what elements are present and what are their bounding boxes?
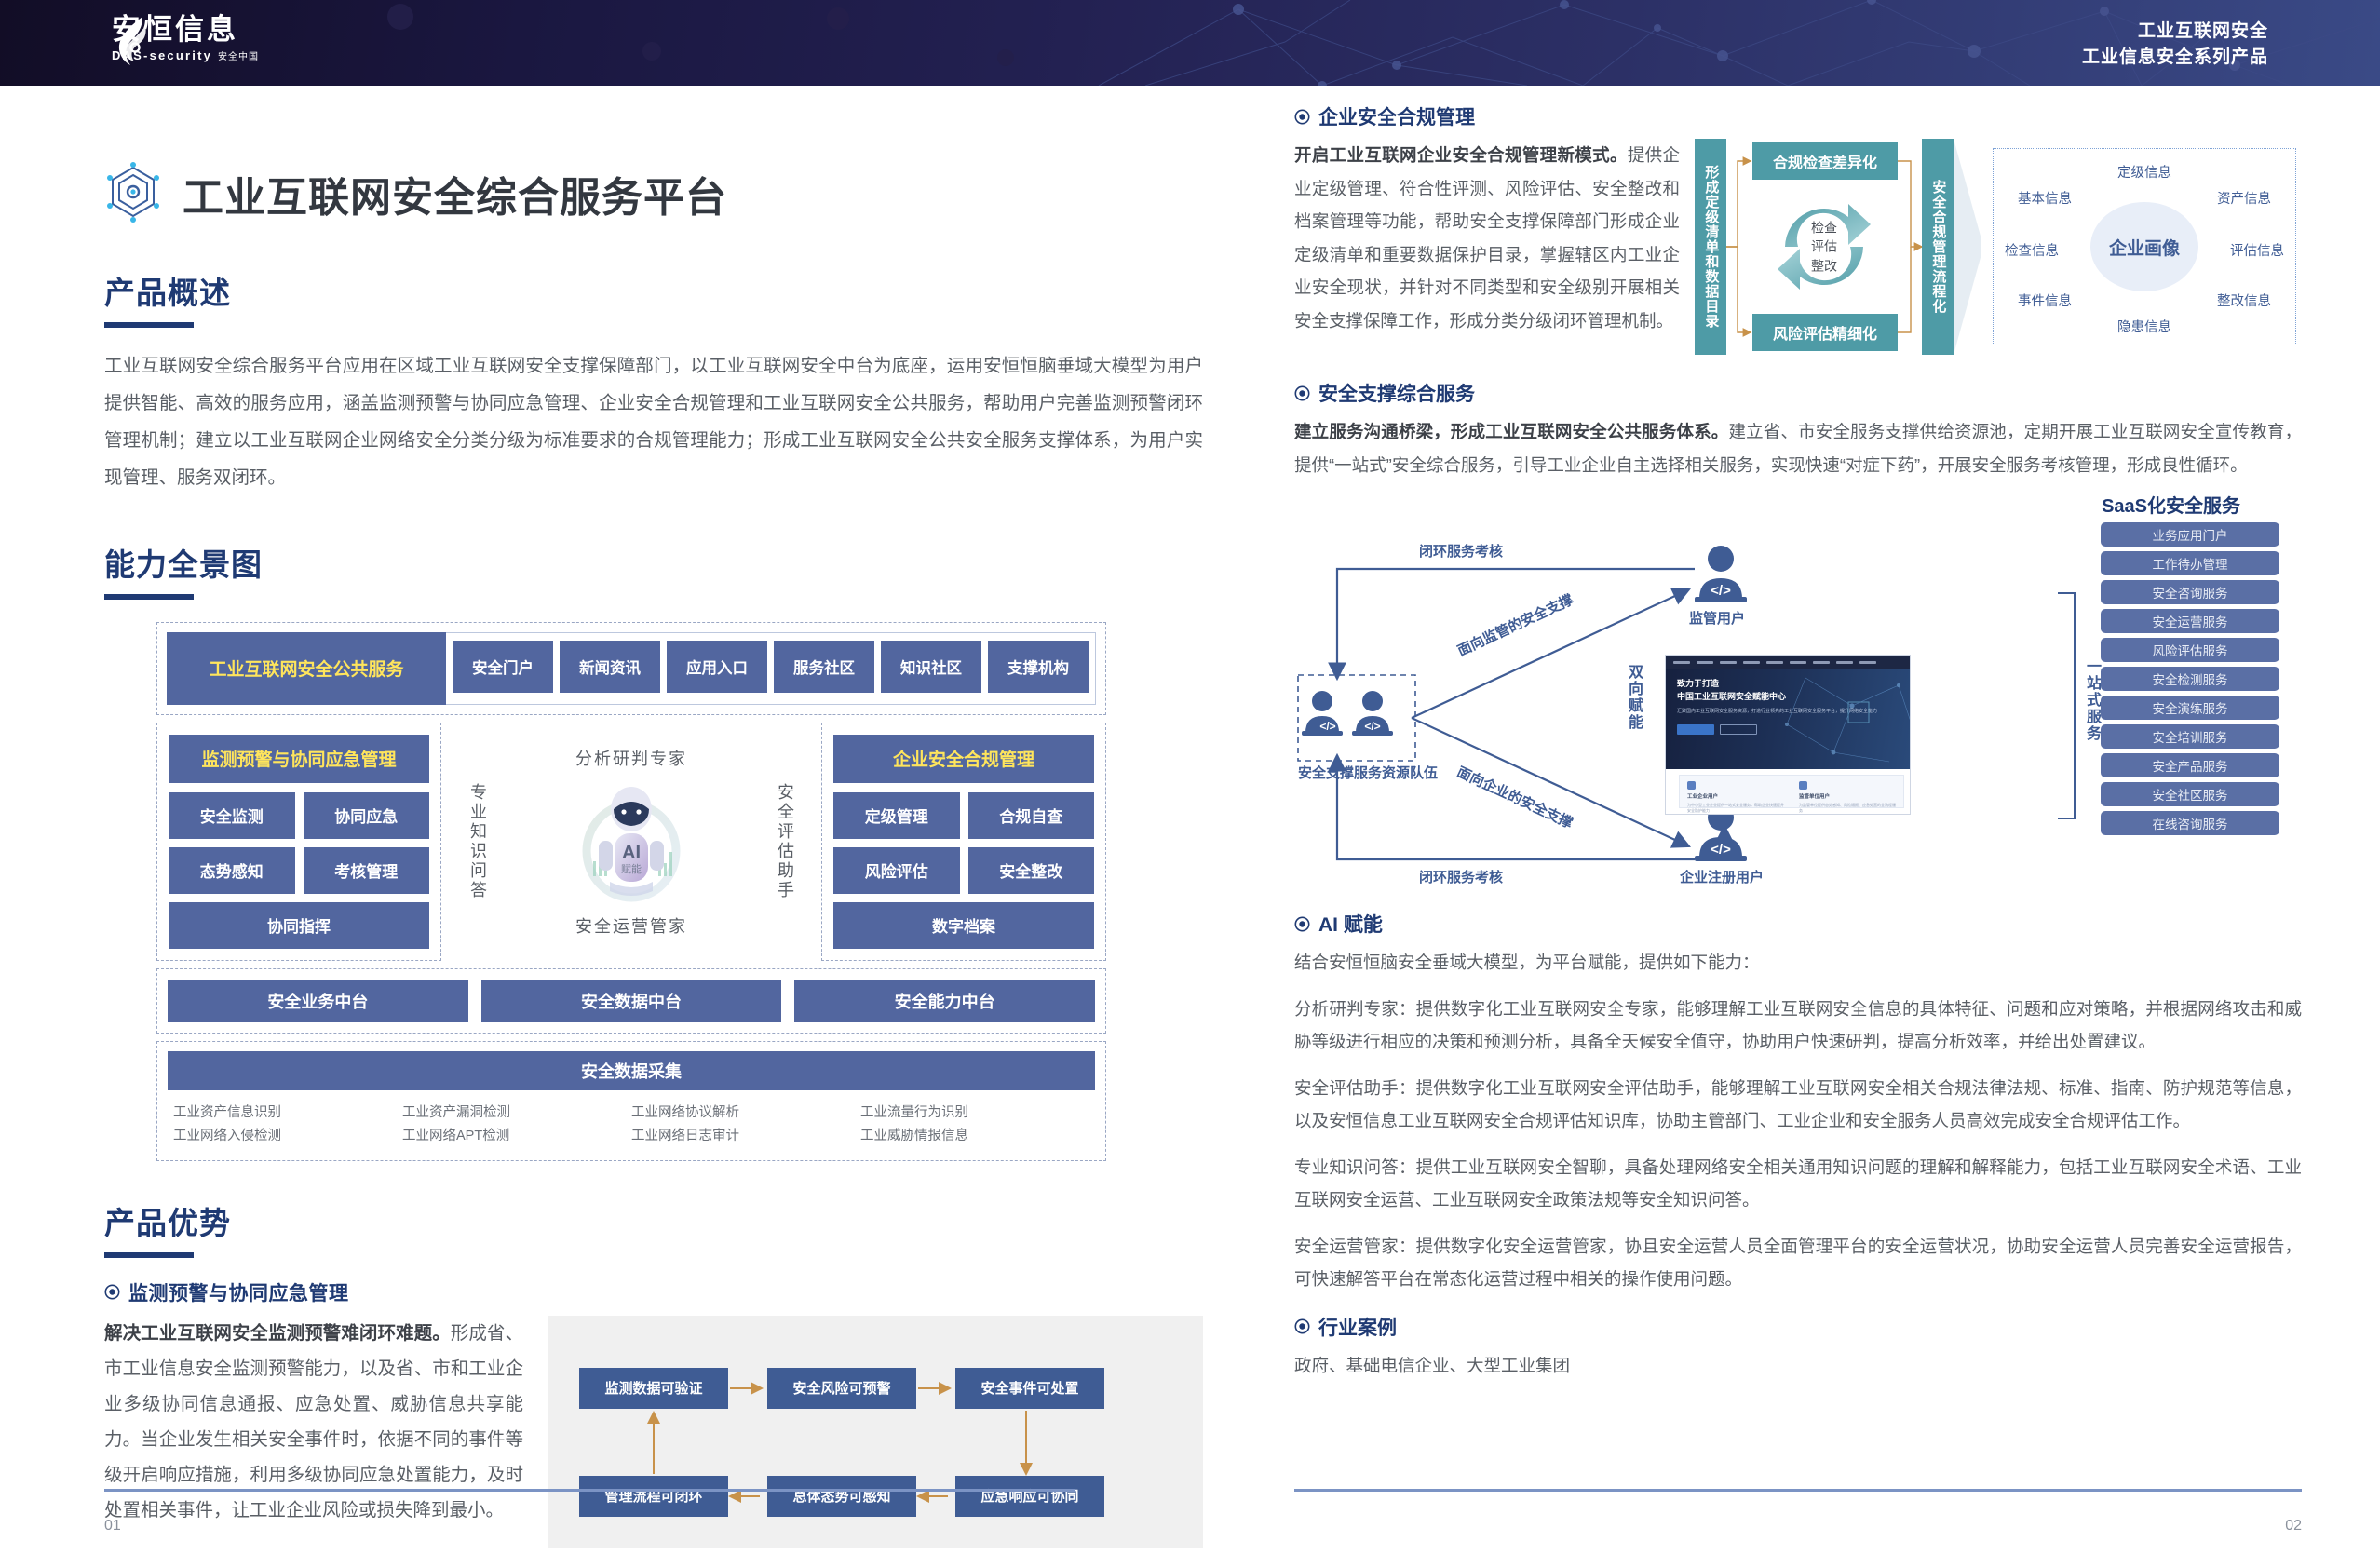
right-page-column: 企业安全合规管理 开启工业互联网企业安全合规管理新模式。提供企业定级管理、符合性… bbox=[1294, 102, 2302, 1382]
banner-network-pattern bbox=[0, 0, 2380, 86]
collect-column: 工业流量行为识别 工业威胁情报信息 bbox=[860, 1102, 1089, 1149]
profile-item: 检查信息 bbox=[2005, 240, 2059, 260]
card-text: 为中小型工业企业提供一站式安全服务，帮助企业快速提升安全防护能力 bbox=[1687, 803, 1784, 815]
ai-right-label: 安全评估助手 bbox=[767, 783, 803, 900]
ai-paragraph: 分析研判专家：提供数字化工业互联网安全专家，能够理解工业互联网安全信息的具体特征… bbox=[1294, 993, 2302, 1059]
closed-loop-flow-diagram: 监测数据可验证 安全风险可预警 安全事件可处置 管理流程可闭环 总体态势可感知 … bbox=[548, 1316, 1203, 1548]
enterprise-profile-box: 定级信息 基本信息 资产信息 检查信息 评估信息 事件信息 整改信息 隐患信息 … bbox=[1993, 148, 2296, 345]
resource-pool-label: 安全支撑服务资源队伍 bbox=[1298, 763, 1415, 782]
platform-item[interactable]: 安全数据中台 bbox=[481, 980, 782, 1022]
saas-item[interactable]: 安全社区服务 bbox=[2101, 782, 2279, 806]
compliance-text-rest: 提供企业定级管理、符合性评测、风险评估、安全整改和档案管理等功能，帮助安全支撑保… bbox=[1294, 145, 1680, 331]
platform-item[interactable]: 安全能力中台 bbox=[794, 980, 1095, 1022]
brochure-spread: 安恒信息 DAS-security安全中国 工业互联网安全 工业信息安全系列产品 bbox=[0, 0, 2380, 1568]
svg-text:</>: </> bbox=[1711, 842, 1731, 858]
closed-loop-top-label: 闭环服务考核 bbox=[1419, 541, 1503, 561]
saas-item[interactable]: 在线咨询服务 bbox=[2101, 811, 2279, 835]
public-service-items: 安全门户 新闻资讯 应用入口 服务社区 知识社区 支撑机构 bbox=[446, 632, 1096, 705]
bullet-target-icon bbox=[1294, 1318, 1310, 1334]
building-icon bbox=[1799, 781, 1807, 790]
data-collection-title: 安全数据采集 bbox=[168, 1051, 1095, 1090]
compliance-text-bold: 开启工业互联网企业安全合规管理新模式。 bbox=[1294, 145, 1628, 165]
saas-item[interactable]: 安全产品服务 bbox=[2101, 753, 2279, 777]
compliance-cycle-group: 合规检查差异化 检查 bbox=[1726, 139, 1922, 355]
section-overview-header: 产品概述 bbox=[104, 268, 1203, 328]
flow-node[interactable]: 管理流程可闭环 bbox=[579, 1476, 728, 1517]
banner-line-2: 工业信息安全系列产品 bbox=[2082, 45, 2268, 71]
public-item[interactable]: 服务社区 bbox=[774, 641, 874, 693]
ai-badge: AI bbox=[622, 843, 641, 863]
funnel-shape bbox=[1954, 139, 1981, 355]
profile-item: 评估信息 bbox=[2230, 240, 2284, 260]
bullet-target-icon bbox=[1294, 109, 1310, 125]
page-title-row: 工业互联网安全综合服务平台 bbox=[104, 162, 1203, 225]
saas-item[interactable]: 安全运营服务 bbox=[2101, 609, 2279, 633]
saas-item[interactable]: 安全演练服务 bbox=[2101, 696, 2279, 720]
bullet-target-icon bbox=[104, 1284, 120, 1300]
advantage-text: 解决工业互联网安全监测预警难闭环难题。形成省、市工业信息安全监测预警能力，以及省… bbox=[104, 1316, 523, 1528]
cycle-line: 检查 bbox=[1811, 219, 1837, 237]
monitoring-module-title: 监测预警与协同应急管理 bbox=[169, 735, 429, 783]
industry-case-text: 政府、基础电信企业、大型工业集团 bbox=[1294, 1349, 2302, 1383]
saas-service-diagram: SaaS化安全服务 bbox=[1294, 491, 2302, 893]
public-item[interactable]: 支撑机构 bbox=[988, 641, 1089, 693]
capability-panorama-diagram: 工业互联网安全公共服务 安全门户 新闻资讯 应用入口 服务社区 知识社区 支撑机… bbox=[156, 622, 1106, 1161]
screenshot-card-1[interactable]: 工业企业用户 为中小型工业企业提供一站式安全服务，帮助企业快速提升安全防护能力 bbox=[1680, 776, 1792, 807]
dual-enable-label: 双向赋能 bbox=[1622, 664, 1644, 731]
ai-robot-icon: AI 赋能 bbox=[561, 772, 701, 912]
monitoring-item[interactable]: 协同应急 bbox=[304, 792, 430, 839]
monitoring-item-wide[interactable]: 协同指挥 bbox=[169, 902, 429, 949]
card-title: 监管单位用户 bbox=[1799, 792, 1896, 800]
collect-item: 工业威胁情报信息 bbox=[860, 1125, 1089, 1148]
one-stop-label: 一站式服务 bbox=[2080, 658, 2103, 742]
collect-item: 工业网络协议解析 bbox=[631, 1102, 860, 1125]
compliance-row-2: 风险评估 安全整改 bbox=[833, 847, 1094, 894]
flow-node[interactable]: 安全风险可预警 bbox=[767, 1368, 916, 1409]
cycle-line: 整改 bbox=[1811, 256, 1837, 275]
profile-item: 隐患信息 bbox=[2117, 317, 2171, 336]
saas-item[interactable]: 安全检测服务 bbox=[2101, 667, 2279, 691]
page-title: 工业互联网安全综合服务平台 bbox=[183, 164, 727, 223]
public-service-title: 工业互联网安全公共服务 bbox=[167, 632, 446, 705]
section-rule bbox=[104, 594, 194, 600]
public-item[interactable]: 安全门户 bbox=[453, 641, 553, 693]
page-number-left: 01 bbox=[104, 1518, 121, 1534]
cycle-line: 评估 bbox=[1811, 237, 1837, 256]
ai-bottom-label: 安全运营管家 bbox=[575, 913, 687, 938]
collect-item: 工业资产信息识别 bbox=[173, 1102, 402, 1125]
profile-center-label: 企业画像 bbox=[2090, 202, 2198, 291]
compliance-section-title: 企业安全合规管理 bbox=[1318, 102, 1475, 130]
card-title: 工业企业用户 bbox=[1687, 792, 1784, 800]
ai-section-header: AI 赋能 bbox=[1294, 910, 2302, 938]
profile-item: 定级信息 bbox=[2117, 162, 2171, 182]
bullet-target-icon bbox=[1294, 385, 1310, 401]
advantage-item-header: 监测预警与协同应急管理 bbox=[104, 1278, 1203, 1306]
advantage-text-bold: 解决工业互联网安全监测预警难闭环难题。 bbox=[104, 1323, 451, 1344]
hero-network-bg bbox=[1666, 669, 1911, 769]
public-item[interactable]: 新闻资讯 bbox=[560, 641, 660, 693]
collect-column: 工业网络协议解析 工业网络日志审计 bbox=[631, 1102, 860, 1149]
profile-item: 事件信息 bbox=[2018, 291, 2072, 310]
profile-item: 基本信息 bbox=[2018, 188, 2072, 208]
compliance-item[interactable]: 定级管理 bbox=[833, 792, 960, 839]
compliance-flow-diagram: 形成定级清单和数据目录 bbox=[1695, 139, 2302, 355]
platform-item[interactable]: 安全业务中台 bbox=[168, 980, 468, 1022]
ai-paragraph: 专业知识问答：提供工业互联网安全智聊，具备处理网络安全相关通用知识问题的理解和解… bbox=[1294, 1151, 2302, 1217]
section-overview-title: 产品概述 bbox=[104, 268, 1203, 313]
saas-item[interactable]: 风险评估服务 bbox=[2101, 638, 2279, 662]
das-logo-icon bbox=[112, 15, 155, 69]
saas-service-list: 业务应用门户 工作待办管理 安全咨询服务 安全运营服务 风险评估服务 安全检测服… bbox=[2101, 522, 2279, 835]
monitoring-item[interactable]: 态势感知 bbox=[169, 847, 295, 894]
user-icon bbox=[1687, 781, 1696, 790]
section-rule bbox=[104, 1252, 194, 1258]
collect-column: 工业资产信息识别 工业网络入侵检测 bbox=[173, 1102, 402, 1149]
public-service-group: 工业互联网安全公共服务 安全门户 新闻资讯 应用入口 服务社区 知识社区 支撑机… bbox=[156, 622, 1106, 715]
section-capability-title: 能力全景图 bbox=[104, 540, 1203, 585]
monitoring-item[interactable]: 安全监测 bbox=[169, 792, 295, 839]
ai-left-label: 专业知识问答 bbox=[460, 783, 495, 900]
industry-case-title: 行业案例 bbox=[1318, 1313, 1397, 1341]
compliance-right-band: 安全合规管理流程化 bbox=[1922, 139, 1954, 355]
saas-item[interactable]: 安全咨询服务 bbox=[2101, 580, 2279, 604]
platform-screenshot: 致力于打造 中国工业互联网安全赋能中心 汇聚国内工业互联网安全服务资源，打造行业… bbox=[1665, 655, 1911, 815]
compliance-cycle: 检查 评估 整改 bbox=[1726, 180, 1922, 314]
page-number-right: 02 bbox=[2285, 1518, 2302, 1534]
collect-column: 工业资产漏洞检测 工业网络APT检测 bbox=[402, 1102, 631, 1149]
capability-middle-row: 监测预警与协同应急管理 安全监测 协同应急 态势感知 考核管理 协同指挥 专业知… bbox=[156, 723, 1106, 961]
footer-rule-right bbox=[1294, 1489, 2302, 1492]
monitoring-item[interactable]: 考核管理 bbox=[304, 847, 430, 894]
collect-item: 工业网络APT检测 bbox=[402, 1125, 631, 1148]
compliance-body: 开启工业互联网企业安全合规管理新模式。提供企业定级管理、符合性评测、风险评估、安… bbox=[1294, 139, 2302, 355]
screenshot-navbar bbox=[1666, 656, 1910, 669]
section-advantage-header: 产品优势 bbox=[104, 1198, 1203, 1258]
support-text-bold: 建立服务沟通桥梁，形成工业互联网安全公共服务体系。 bbox=[1294, 422, 1728, 441]
enterprise-user-label: 企业注册用户 bbox=[1680, 867, 1764, 886]
ai-top-label: 分析研判专家 bbox=[575, 746, 687, 770]
hexagon-gear-icon bbox=[104, 162, 162, 225]
ai-paragraph: 安全运营管家：提供数字化安全运营管家，协且安全运营人员全面管理平台的安全运营状况… bbox=[1294, 1230, 2302, 1296]
collect-item: 工业流量行为识别 bbox=[860, 1102, 1089, 1125]
collect-item: 工业网络入侵检测 bbox=[173, 1125, 402, 1148]
compliance-item-wide[interactable]: 数字档案 bbox=[833, 902, 1094, 949]
screenshot-card-2[interactable]: 监管单位用户 为监管单位提供态势感知、风险通报、应急处置的全流程服务 bbox=[1792, 776, 1903, 807]
footer-rule-left bbox=[104, 1489, 1075, 1492]
closed-loop-bottom-label: 闭环服务考核 bbox=[1419, 867, 1503, 886]
screenshot-hero: 致力于打造 中国工业互联网安全赋能中心 汇聚国内工业互联网安全服务资源，打造行业… bbox=[1666, 669, 1910, 769]
flow-node[interactable]: 监测数据可验证 bbox=[579, 1368, 728, 1409]
svg-text:</>: </> bbox=[1364, 720, 1380, 733]
support-section-header: 安全支撑综合服务 bbox=[1294, 379, 2302, 407]
data-collection-group: 安全数据采集 工业资产信息识别 工业网络入侵检测 工业资产漏洞检测 工业网络AP… bbox=[156, 1041, 1106, 1161]
ai-paragraph: 安全评估助手：提供数字化工业互联网安全评估助手，能够理解工业互联网安全相关合规法… bbox=[1294, 1072, 2302, 1138]
support-section-title: 安全支撑综合服务 bbox=[1318, 379, 1475, 407]
section-rule bbox=[104, 322, 194, 328]
saas-item[interactable]: 工作待办管理 bbox=[2101, 551, 2279, 575]
monitoring-row-1: 安全监测 协同应急 bbox=[169, 792, 429, 839]
regulator-user-label: 监管用户 bbox=[1689, 608, 1745, 628]
monitoring-module: 监测预警与协同应急管理 安全监测 协同应急 态势感知 考核管理 协同指挥 bbox=[156, 723, 441, 961]
cycle-center-text: 检查 评估 整改 bbox=[1811, 219, 1837, 276]
flow-node[interactable]: 应急响应可协同 bbox=[955, 1476, 1104, 1517]
compliance-module: 企业安全合规管理 定级管理 合规自查 风险评估 安全整改 数字档案 bbox=[821, 723, 1106, 961]
svg-text:</>: </> bbox=[1319, 720, 1335, 733]
advantage-item-title: 监测预警与协同应急管理 bbox=[128, 1278, 349, 1306]
advantage-body: 解决工业互联网安全监测预警难闭环难题。形成省、市工业信息安全监测预警能力，以及省… bbox=[104, 1316, 1203, 1548]
company-logo: 安恒信息 DAS-security安全中国 bbox=[112, 15, 259, 62]
saas-item[interactable]: 业务应用门户 bbox=[2101, 522, 2279, 547]
profile-item: 资产信息 bbox=[2217, 188, 2271, 208]
compliance-item[interactable]: 合规自查 bbox=[968, 792, 1095, 839]
svg-text:</>: </> bbox=[1711, 583, 1731, 599]
section-advantage-title: 产品优势 bbox=[104, 1198, 1203, 1243]
compliance-row-1: 定级管理 合规自查 bbox=[833, 792, 1094, 839]
flow-node[interactable]: 安全事件可处置 bbox=[955, 1368, 1104, 1409]
compliance-item[interactable]: 风险评估 bbox=[833, 847, 960, 894]
platform-group: 安全业务中台 安全数据中台 安全能力中台 bbox=[156, 968, 1106, 1034]
collect-item: 工业资产漏洞检测 bbox=[402, 1102, 631, 1125]
ai-badge-sub: 赋能 bbox=[621, 862, 642, 875]
ai-section-title: AI 赋能 bbox=[1318, 910, 1383, 938]
top-banner: 安恒信息 DAS-security安全中国 工业互联网安全 工业信息安全系列产品 bbox=[0, 0, 2380, 86]
banner-product-line: 工业互联网安全 工业信息安全系列产品 bbox=[2082, 19, 2268, 70]
compliance-item[interactable]: 安全整改 bbox=[968, 847, 1095, 894]
bullet-target-icon bbox=[1294, 916, 1310, 932]
support-text: 建立服务沟通桥梁，形成工业互联网安全公共服务体系。建立省、市安全服务支撑供给资源… bbox=[1294, 415, 2302, 481]
compliance-text: 开启工业互联网企业安全合规管理新模式。提供企业定级管理、符合性评测、风险评估、安… bbox=[1294, 139, 1680, 355]
card-text: 为监管单位提供态势感知、风险通报、应急处置的全流程服务 bbox=[1799, 803, 1896, 815]
compliance-module-title: 企业安全合规管理 bbox=[833, 735, 1094, 783]
ai-module: 专业知识问答 分析研判专家 bbox=[449, 723, 814, 961]
screenshot-entry-cards: 工业企业用户 为中小型工业企业提供一站式安全服务，帮助企业快速提升安全防护能力 … bbox=[1679, 775, 1904, 808]
overview-paragraph: 工业互联网安全综合服务平台应用在区域工业互联网安全支撑保障部门，以工业互联网安全… bbox=[104, 348, 1203, 497]
profile-item: 整改信息 bbox=[2217, 291, 2271, 310]
monitoring-row-2: 态势感知 考核管理 bbox=[169, 847, 429, 894]
flow-node[interactable]: 总体态势可感知 bbox=[767, 1476, 916, 1517]
compliance-section-header: 企业安全合规管理 bbox=[1294, 102, 2302, 130]
ai-intro: 结合安恒恒脑安全垂域大模型，为平台赋能，提供如下能力： bbox=[1294, 946, 2302, 980]
banner-line-1: 工业互联网安全 bbox=[2082, 19, 2268, 45]
section-capability-header: 能力全景图 bbox=[104, 540, 1203, 600]
public-item[interactable]: 应用入口 bbox=[667, 641, 767, 693]
left-page-column: 工业互联网安全综合服务平台 产品概述 工业互联网安全综合服务平台应用在区域工业互… bbox=[104, 102, 1203, 1548]
industry-case-header: 行业案例 bbox=[1294, 1313, 2302, 1341]
saas-item[interactable]: 安全培训服务 bbox=[2101, 724, 2279, 749]
compliance-left-band: 形成定级清单和数据目录 bbox=[1695, 139, 1726, 355]
collect-item: 工业网络日志审计 bbox=[631, 1125, 860, 1148]
public-item[interactable]: 知识社区 bbox=[881, 641, 981, 693]
